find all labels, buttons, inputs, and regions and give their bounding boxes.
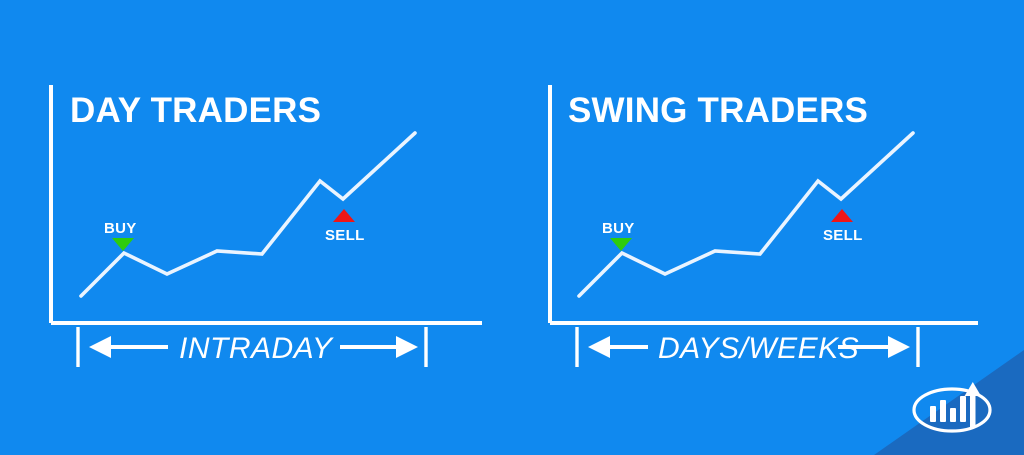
panel-title: SWING TRADERS bbox=[568, 91, 868, 130]
axis-range-label: INTRADAY bbox=[179, 332, 334, 365]
buy-label: BUY bbox=[104, 220, 137, 237]
axis-range-label: DAYS/WEEKS bbox=[658, 332, 859, 365]
arrow-head-left-icon bbox=[89, 336, 111, 358]
arrow-head-right-icon bbox=[888, 336, 910, 358]
panel-swing-traders: BUY SELL SWING TRADERS DAYS/WEEKS bbox=[480, 0, 992, 455]
sell-marker-icon bbox=[831, 209, 853, 222]
panel-day-traders: BUY SELL DAY TRADERS INTRADAY bbox=[0, 0, 512, 455]
arrow-head-right-icon bbox=[396, 336, 418, 358]
buy-marker-icon bbox=[112, 238, 134, 251]
infographic-canvas: BUY SELL DAY TRADERS INTRADAY BUY SELL bbox=[0, 0, 1024, 455]
sell-label: SELL bbox=[823, 227, 863, 244]
buy-label: BUY bbox=[602, 220, 635, 237]
sell-label: SELL bbox=[325, 227, 365, 244]
price-line bbox=[81, 133, 415, 296]
sell-marker-icon bbox=[333, 209, 355, 222]
buy-marker-icon bbox=[610, 238, 632, 251]
price-line bbox=[579, 133, 913, 296]
arrow-head-left-icon bbox=[588, 336, 610, 358]
panel-title: DAY TRADERS bbox=[70, 91, 321, 130]
